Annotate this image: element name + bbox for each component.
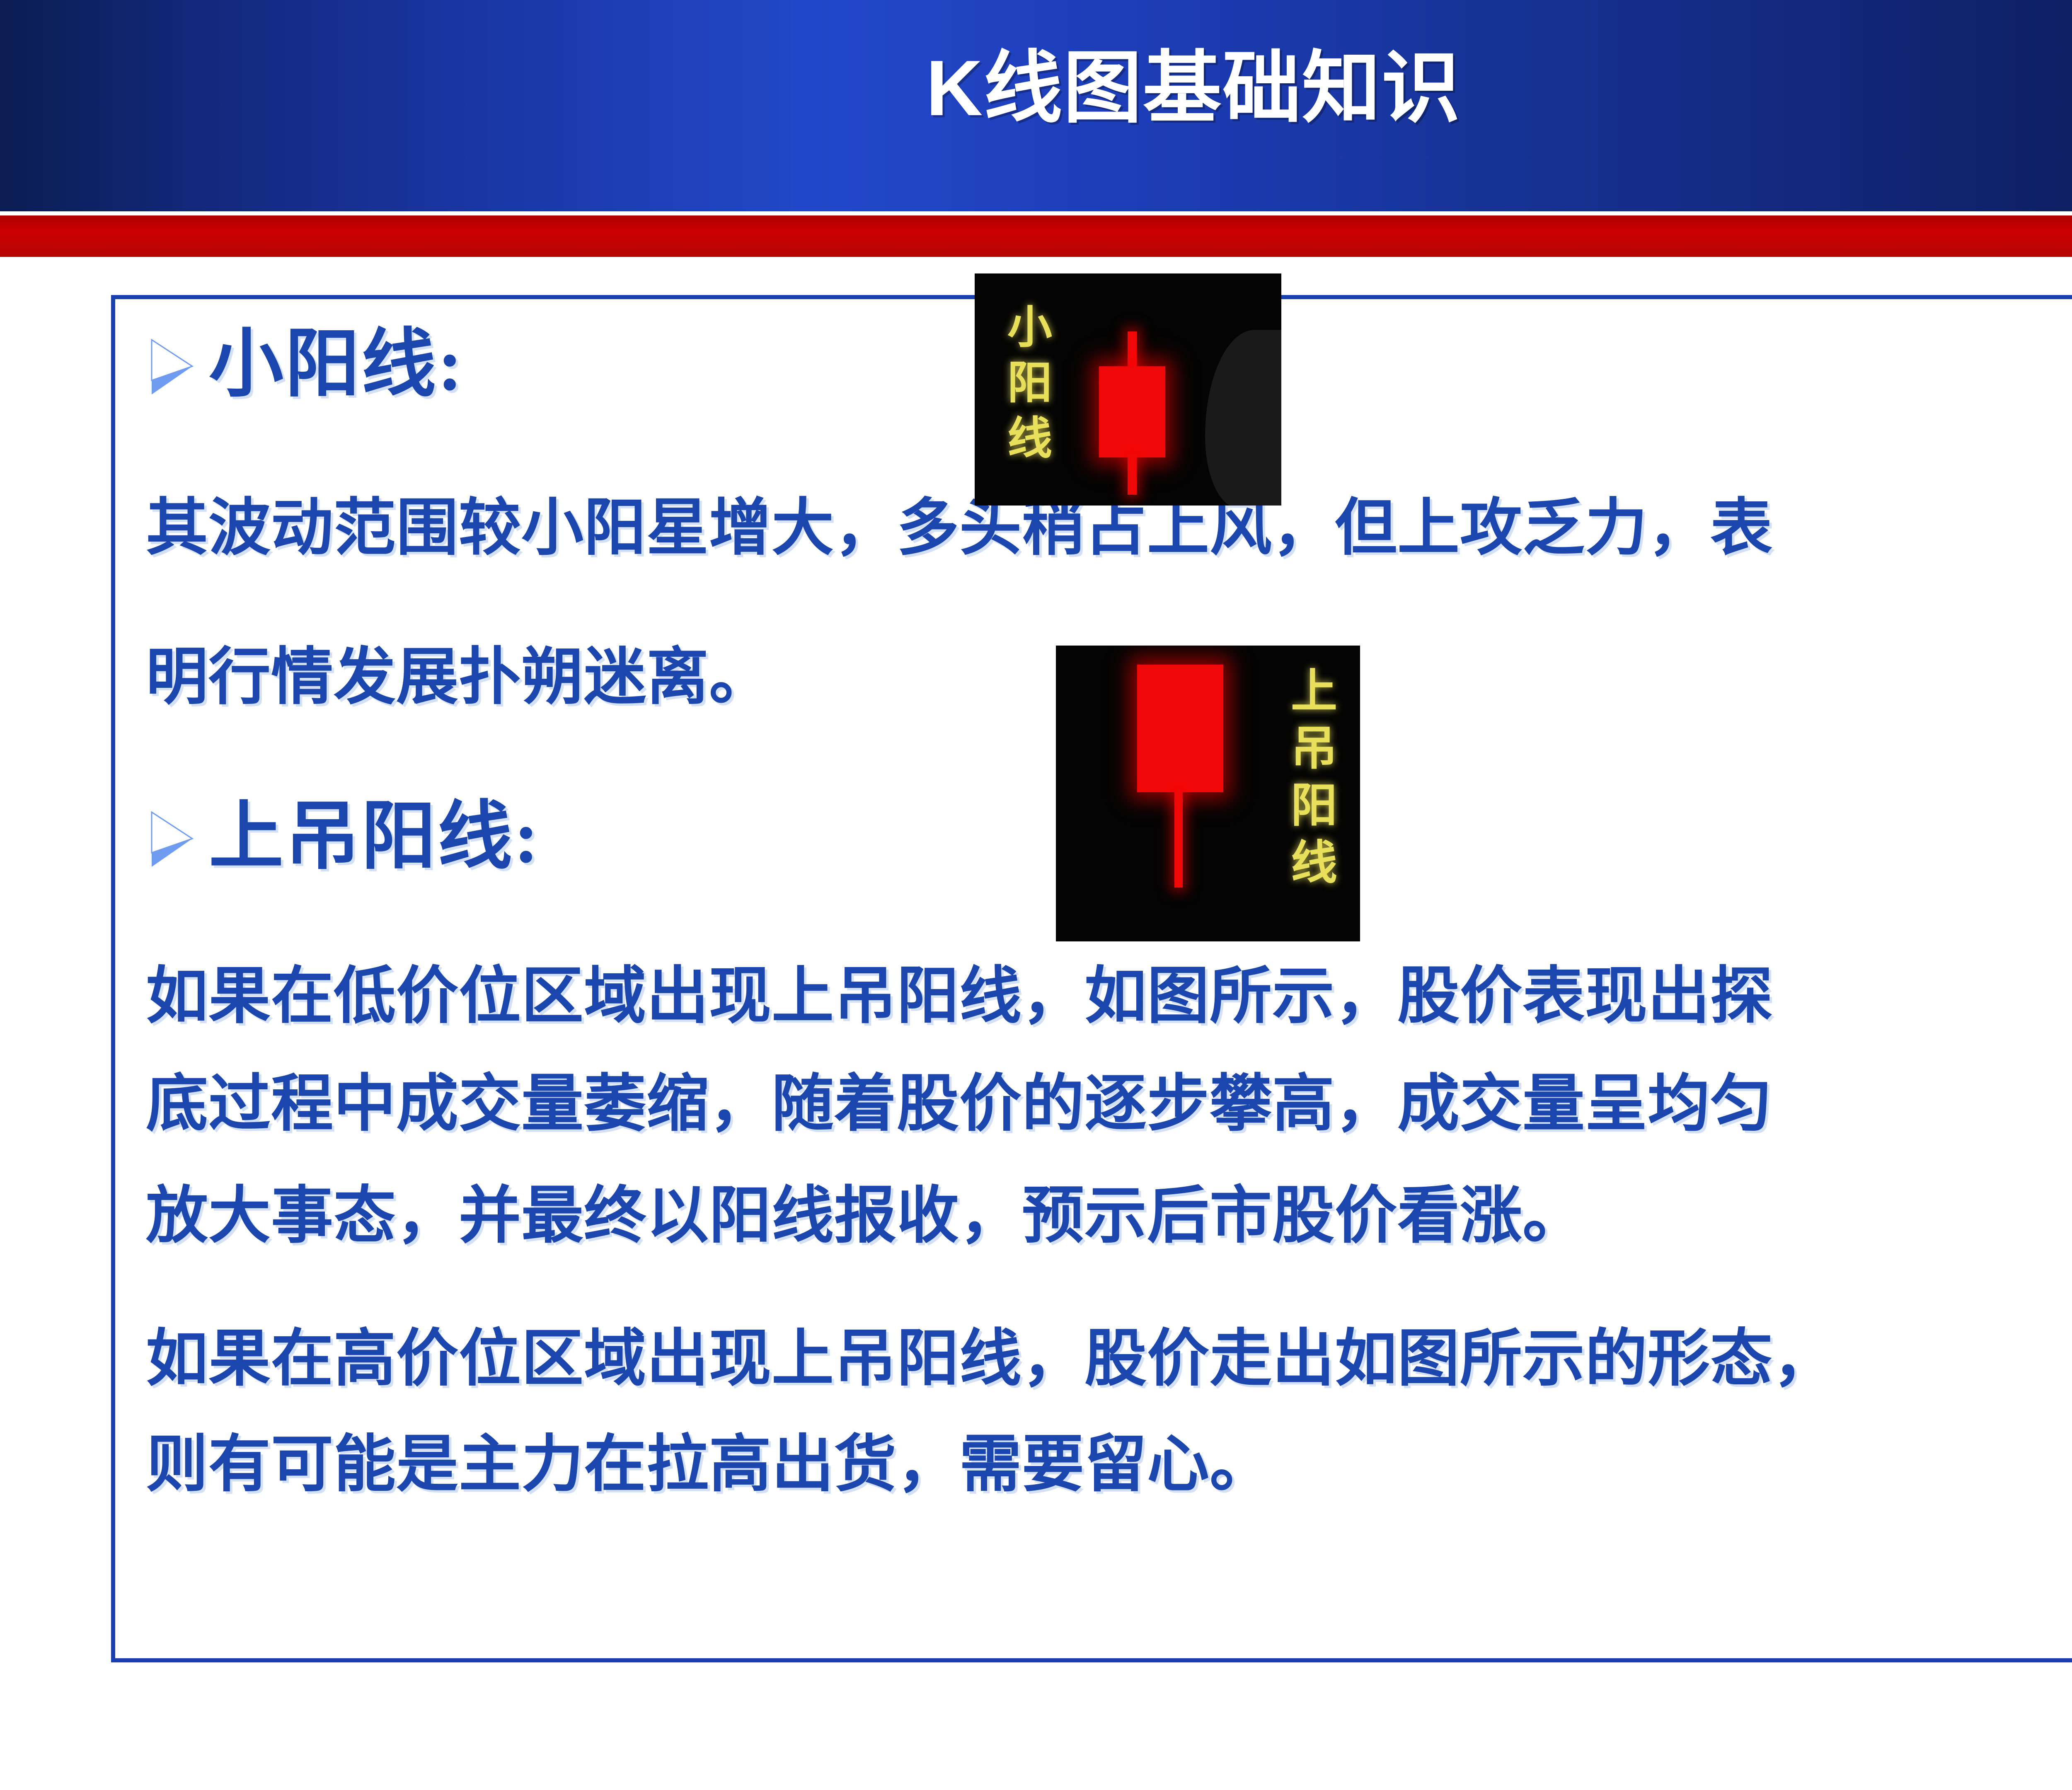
chevron-right-bullet-icon [149, 806, 195, 873]
candle-body [1137, 665, 1223, 792]
slide-header-banner: K线图基础知识 [0, 0, 2072, 211]
hanging-man-bullish-candle-figure: 上吊阳线 [1056, 646, 1360, 941]
page-title: K线图基础知识 [0, 49, 2072, 128]
section-heading-xiaoyangxian: 小阳线: [149, 327, 464, 402]
slide-root: K线图基础知识 小阳线: 其波动范围较小阳星增大，多头稍占上风，但上攻乏力，表 … [0, 0, 2072, 1790]
candle-lower-wick [1128, 452, 1137, 495]
body-line: 其波动范围较小阳星增大，多头稍占上风，但上攻乏力，表 [146, 497, 1773, 559]
small-bullish-candle-figure: 小阳线 [975, 273, 1281, 506]
candle-body [1099, 366, 1165, 457]
red-accent-bar [0, 215, 2072, 257]
body-line: 则有可能是主力在拉高出货，需要留心。 [146, 1434, 1272, 1496]
body-line: 明行情发展扑朔迷离。 [146, 646, 772, 709]
section-heading-text: 上吊阳线: [209, 800, 540, 874]
chevron-right-bullet-icon [149, 334, 195, 400]
figure-label: 上吊阳线 [1276, 666, 1343, 895]
red-accent-bar-underline [0, 257, 2072, 263]
figure-label: 小阳线 [994, 303, 1058, 470]
header-hairline-divider [0, 211, 2072, 215]
body-line: 如果在高价位区域出现上吊阳线，股价走出如图所示的形态， [146, 1328, 1835, 1390]
section-heading-text: 小阳线: [209, 327, 464, 402]
body-line: 放大事态，并最终以阳线报收，预示后市股价看涨。 [146, 1185, 1585, 1247]
figure-background-shape [1205, 330, 1281, 506]
body-line: 如果在低价位区域出现上吊阳线，如图所示，股价表现出探 [146, 965, 1773, 1028]
section-heading-shangdiaoyangxian: 上吊阳线: [149, 800, 540, 874]
candle-lower-shadow [1174, 789, 1183, 888]
body-line: 底过程中成交量萎缩，随着股价的逐步攀高，成交量呈均匀 [146, 1073, 1773, 1135]
